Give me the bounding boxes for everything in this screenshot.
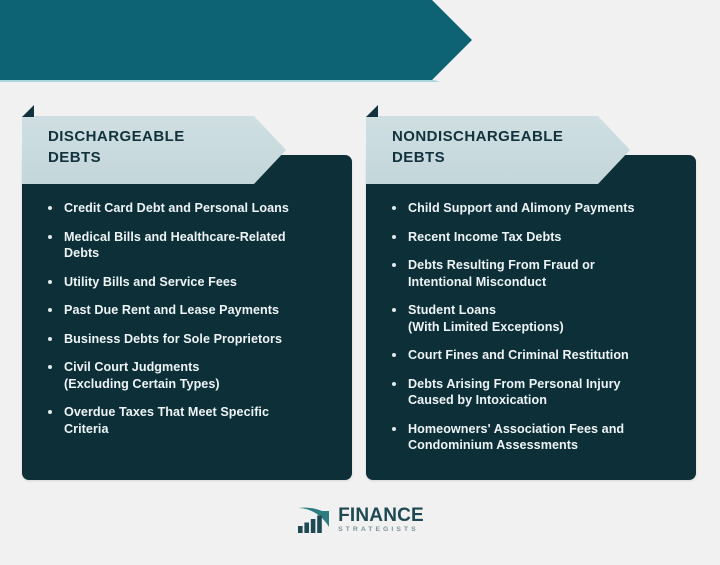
bullet-dot-icon [392,206,396,210]
list-item-text: Student Loans (With Limited Exceptions) [408,302,684,335]
list-item-line-1: Utility Bills and Service Fees [64,275,237,289]
list-item: Credit Card Debt and Personal Loans [44,200,340,217]
bullet-dot-icon [48,280,52,284]
finance-strategists-chart-arc-icon [296,505,332,535]
list-item-text: Business Debts for Sole Proprietors [64,331,340,348]
list-item: Utility Bills and Service Fees [44,274,340,291]
list-item: Civil Court Judgments (Excluding Certain… [44,359,340,392]
bullet-dot-icon [392,308,396,312]
list-item-line-1: Credit Card Debt and Personal Loans [64,201,289,215]
ribbon-fold-icon [366,105,378,117]
list-item-line-1: Civil Court Judgments [64,360,199,374]
column-dischargeable: DISCHARGEABLE DEBTS Credit Card Debt and… [22,96,352,486]
list-item-text: Recent Income Tax Debts [408,229,684,246]
list-item: Debts Resulting From Fraud or Intentiona… [388,257,684,290]
list-item: Child Support and Alimony Payments [388,200,684,217]
list-item: Recent Income Tax Debts [388,229,684,246]
list-item-text: Debts Resulting From Fraud or Intentiona… [408,257,684,290]
list-item-line-1: Debts Arising From Personal Injury [408,377,621,391]
header-banner [0,0,472,80]
bullet-dot-icon [48,235,52,239]
list-item: Past Due Rent and Lease Payments [44,302,340,319]
list-item-text: Past Due Rent and Lease Payments [64,302,340,319]
brand-name: FINANCE [338,506,424,525]
brand-logo-text: FINANCE STRATEGISTS [338,506,424,534]
list-item-line-2: Intentional Misconduct [408,274,684,291]
list-item-line-2: (Excluding Certain Types) [64,376,340,393]
list-item-line-1: Past Due Rent and Lease Payments [64,303,279,317]
bullet-dot-icon [48,206,52,210]
list-item-line-2: Caused by Intoxication [408,392,684,409]
list-item-line-2: Condominium Assessments [408,437,684,454]
columns-container: DISCHARGEABLE DEBTS Credit Card Debt and… [0,96,720,496]
list-item-text: Debts Arising From Personal Injury Cause… [408,376,684,409]
brand-logo: FINANCE STRATEGISTS [0,503,720,537]
list-item-text: Court Fines and Criminal Restitution [408,347,684,364]
bullet-dot-icon [48,365,52,369]
list-item: Overdue Taxes That Meet Specific Criteri… [44,404,340,437]
brand-tagline: STRATEGISTS [338,527,424,534]
nondischargeable-debts-list: Child Support and Alimony Payments Recen… [388,200,684,454]
list-item-line-1: Medical Bills and Healthcare-Related [64,230,286,244]
column-heading-line-2: DEBTS [48,147,258,168]
list-item-line-2: Debts [64,245,340,262]
bullet-dot-icon [392,427,396,431]
list-item: Debts Arising From Personal Injury Cause… [388,376,684,409]
column-heading: DISCHARGEABLE DEBTS [48,126,258,168]
list-item: Medical Bills and Healthcare-Related Deb… [44,229,340,262]
ribbon-fold-icon [22,105,34,117]
list-item-text: Child Support and Alimony Payments [408,200,684,217]
column-nondischargeable: NONDISCHARGEABLE DEBTS Child Support and… [366,96,696,486]
dischargeable-debts-list: Credit Card Debt and Personal Loans Medi… [44,200,340,437]
list-item-text: Homeowners' Association Fees and Condomi… [408,421,684,454]
column-heading-line-1: NONDISCHARGEABLE [392,126,602,147]
bullet-dot-icon [48,410,52,414]
list-item-line-1: Recent Income Tax Debts [408,230,562,244]
list-item-line-1: Business Debts for Sole Proprietors [64,332,282,346]
list-item: Court Fines and Criminal Restitution [388,347,684,364]
bullet-dot-icon [48,337,52,341]
bullet-dot-icon [392,382,396,386]
list-item-line-2: Criteria [64,421,340,438]
list-item-line-1: Student Loans [408,303,496,317]
list-item-line-2: (With Limited Exceptions) [408,319,684,336]
list-item: Student Loans (With Limited Exceptions) [388,302,684,335]
column-heading-line-1: DISCHARGEABLE [48,126,258,147]
list-item-text: Credit Card Debt and Personal Loans [64,200,340,217]
bullet-dot-icon [392,263,396,267]
infographic-page: Dischargeable and Nondischargeable Debts… [0,0,720,565]
list-item-line-1: Debts Resulting From Fraud or [408,258,595,272]
list-item-line-1: Overdue Taxes That Meet Specific [64,405,269,419]
list-item: Business Debts for Sole Proprietors [44,331,340,348]
bullet-dot-icon [392,353,396,357]
list-item-text: Overdue Taxes That Meet Specific Criteri… [64,404,340,437]
column-heading: NONDISCHARGEABLE DEBTS [392,126,602,168]
list-item: Homeowners' Association Fees and Condomi… [388,421,684,454]
list-item-text: Utility Bills and Service Fees [64,274,340,291]
list-item-text: Medical Bills and Healthcare-Related Deb… [64,229,340,262]
list-item-line-1: Child Support and Alimony Payments [408,201,635,215]
list-item-text: Civil Court Judgments (Excluding Certain… [64,359,340,392]
bullet-dot-icon [392,235,396,239]
bullet-dot-icon [48,308,52,312]
column-heading-line-2: DEBTS [392,147,602,168]
list-item-line-1: Court Fines and Criminal Restitution [408,348,629,362]
list-item-line-1: Homeowners' Association Fees and [408,422,624,436]
